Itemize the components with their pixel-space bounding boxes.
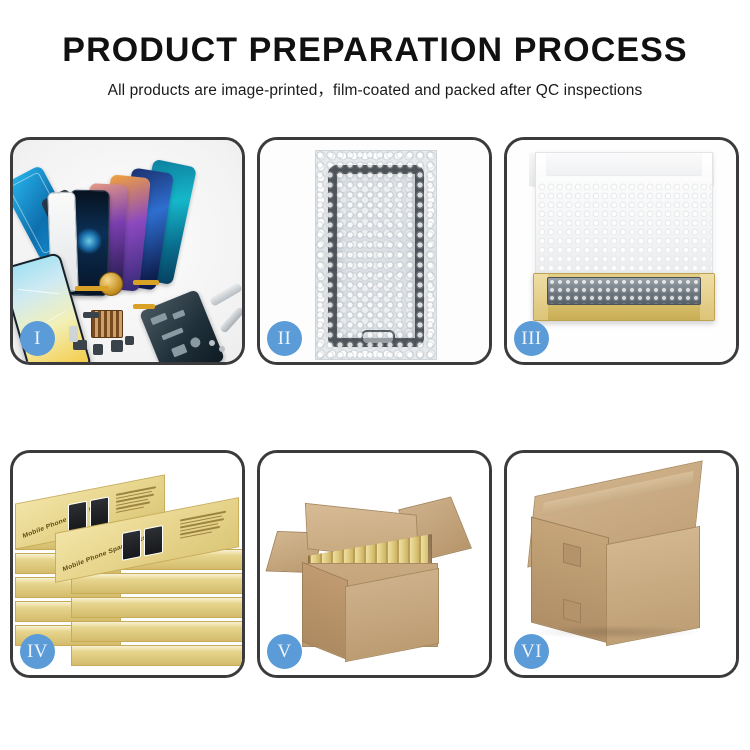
page-subtitle: All products are image-printed，film-coat… [0,78,750,100]
screw-icon [209,340,215,346]
bubble-wrap-icon [315,150,437,360]
box-thumbnails [122,525,163,561]
screen-thumbnail [122,529,141,561]
step-badge-1: I [20,321,55,356]
carton-shadow [527,625,703,639]
step-badge-4: IV [20,634,55,669]
flex-cable-icon [75,286,109,291]
process-step-panel-4[interactable]: Mobile Phone Spare Parts [10,450,245,678]
box-spec-lines [180,510,228,538]
box-spec-lines [116,486,158,513]
step-badge-6: VI [514,634,549,669]
flex-cable-icon [133,304,155,309]
process-step-grid: I II III [10,137,740,678]
small-part-icon [93,344,103,355]
box-layer [71,645,242,666]
process-step-panel-3[interactable]: III [504,137,739,365]
foam-lining-icon [535,152,713,282]
sim-tray-icon [69,326,78,342]
process-step-panel-5[interactable]: V [257,450,492,678]
box-stack-icon: Mobile Phone Spare Parts [13,467,242,663]
product-preparation-infographic: PRODUCT PREPARATION PROCESS All products… [0,0,750,750]
process-step-panel-1[interactable]: I [10,137,245,365]
small-part-icon [83,312,99,318]
wrapped-screen-icon [547,277,701,305]
page-title: PRODUCT PREPARATION PROCESS [0,33,750,69]
box-layer [71,597,242,618]
screw-icon [219,346,225,352]
small-part-icon [125,336,134,345]
step-badge-2: II [267,321,302,356]
flex-cable-icon [133,280,159,285]
vibration-motor-icon [99,272,123,296]
phone-screen-icon [328,165,424,347]
step-badge-5: V [267,634,302,669]
header: PRODUCT PREPARATION PROCESS All products… [0,0,750,100]
step-badge-3: III [514,321,549,356]
screen-thumbnail [144,525,163,557]
box-layer [71,573,242,594]
box-layer [71,621,242,642]
small-part-icon [111,340,123,352]
process-step-panel-6[interactable]: VI [504,450,739,678]
process-step-panel-2[interactable]: II [257,137,492,365]
